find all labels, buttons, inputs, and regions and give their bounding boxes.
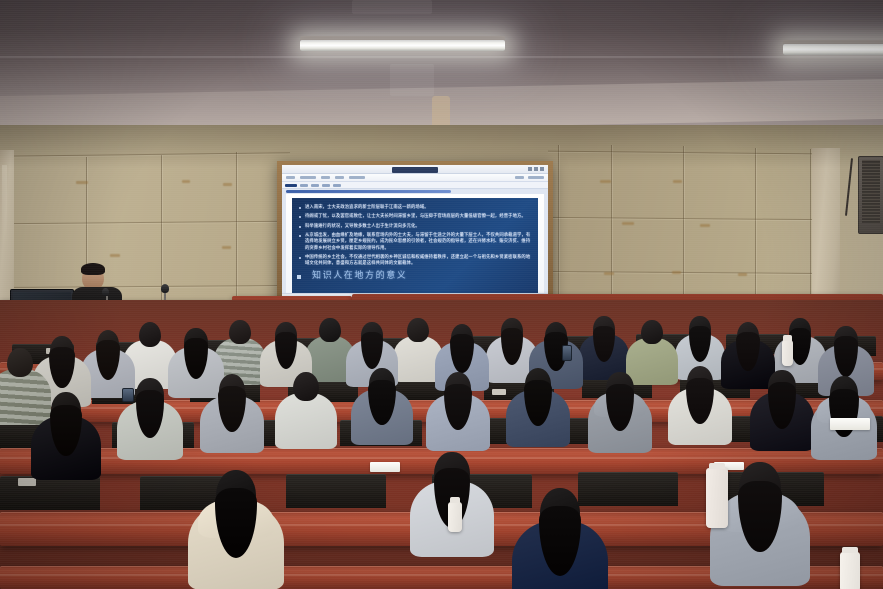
audience-member bbox=[750, 370, 814, 458]
paper-sheet bbox=[830, 418, 870, 430]
audience-head bbox=[7, 348, 33, 377]
ppt-ribbon[interactable] bbox=[282, 174, 548, 182]
slide-heading-bullet-icon bbox=[297, 275, 301, 279]
audience-member bbox=[275, 372, 337, 457]
seat-number-tag bbox=[492, 389, 506, 395]
bullet-dot-icon bbox=[299, 235, 301, 237]
audience-head bbox=[319, 318, 340, 342]
bullet-dot-icon bbox=[299, 216, 301, 218]
slide-bullet-text: 从京城出发，由血缘扩及地缘，联系官场内外的士大夫，与滞留于仕途之外的大量下层士人… bbox=[305, 232, 531, 251]
audience-member bbox=[351, 368, 413, 453]
wall-panel-mark bbox=[700, 224, 710, 227]
ribbon-right-group[interactable] bbox=[515, 176, 544, 179]
window-controls[interactable] bbox=[528, 167, 544, 171]
wall-panel-mark bbox=[622, 222, 634, 225]
slide-bullet: 中国传统的乡土社会，不仅通过世代相袭的乡神区诚信和权威维持着秩序，还建立起一个与… bbox=[299, 254, 531, 266]
audience-member bbox=[31, 392, 102, 489]
ceiling-seam bbox=[0, 56, 883, 58]
slide-heading: 知识人在地方的意义 bbox=[312, 268, 407, 281]
microphone-head-icon bbox=[102, 288, 109, 296]
speaker-grille bbox=[862, 160, 880, 223]
wall-speaker bbox=[858, 156, 883, 234]
water-bottle bbox=[448, 502, 462, 532]
slide-bullet: 进入南宋，士大夫政治追求的新士阶层联于江南这一新的场域。 bbox=[299, 204, 531, 210]
column-highlight bbox=[2, 165, 7, 245]
paper-sheet bbox=[370, 462, 400, 472]
slide-bullet-text: 科举施难行的状况，又导致多数士人出于生计流向多元化。 bbox=[305, 223, 420, 229]
presenter-hair bbox=[81, 263, 105, 275]
water-bottle bbox=[706, 468, 728, 528]
bottle-cap bbox=[783, 335, 791, 341]
fluorescent-tube-light bbox=[783, 44, 883, 55]
slide-bullet: 待阙或丁忧，以及罢官或致仕，让士大夫长时间滞留乡里，与压抑于官场底层的大量低级官… bbox=[299, 213, 531, 219]
bottle-cap bbox=[450, 497, 461, 503]
audience-head bbox=[407, 318, 428, 342]
audience-head bbox=[641, 320, 663, 344]
smartphone bbox=[122, 388, 134, 402]
wall-panel-mark bbox=[600, 180, 611, 183]
ppt-title-bar bbox=[282, 165, 548, 174]
audience-head bbox=[139, 322, 161, 347]
wall-panel-mark bbox=[182, 180, 190, 183]
wall-panel-mark bbox=[673, 180, 682, 183]
slide-canvas: 进入南宋，士大夫政治追求的新士阶层联于江南这一新的场域。 待阙或丁忧，以及罢官或… bbox=[286, 194, 544, 293]
wall-panel-mark bbox=[223, 183, 232, 186]
wall-panel-mark bbox=[222, 246, 231, 249]
ppt-progress-strip[interactable] bbox=[286, 190, 451, 193]
ppt-document-title bbox=[392, 167, 438, 173]
audience-member bbox=[668, 366, 731, 453]
audience-head bbox=[229, 320, 251, 344]
water-bottle bbox=[782, 340, 793, 366]
bottle-cap bbox=[709, 463, 726, 469]
bottle-cap bbox=[842, 547, 857, 553]
audience-member bbox=[588, 372, 652, 460]
water-bottle bbox=[840, 552, 860, 589]
bullet-dot-icon bbox=[299, 207, 301, 209]
slide-bullet-text: 进入南宋，士大夫政治追求的新士阶层联于江南这一新的场域。 bbox=[305, 204, 429, 210]
audience-member bbox=[426, 372, 489, 459]
bullet-dot-icon bbox=[299, 257, 301, 259]
slide-bullet: 科举施难行的状况，又导致多数士人出于生计流向多元化。 bbox=[299, 223, 531, 229]
bullet-dot-icon bbox=[299, 226, 301, 228]
ppt-tab-bar[interactable] bbox=[282, 182, 548, 189]
slide-body-textbox: 进入南宋，士大夫政治追求的新士阶层联于江南这一新的场域。 待阙或丁忧，以及罢官或… bbox=[292, 198, 538, 297]
audience-member bbox=[200, 374, 263, 461]
audience-head bbox=[293, 372, 319, 401]
ceiling-vent bbox=[352, 0, 432, 14]
slide-bullet: 从京城出发，由血缘扩及地缘，联系官场内外的士大夫，与滞留于仕途之外的大量下层士人… bbox=[299, 232, 531, 251]
audience-member bbox=[506, 368, 569, 455]
fluorescent-tube-light bbox=[300, 40, 505, 51]
lecture-hall-photo: 进入南宋，士大夫政治追求的新士阶层联于江南这一新的场域。 待阙或丁忧，以及罢官或… bbox=[0, 0, 883, 589]
seat-back bbox=[286, 474, 386, 508]
smartphone bbox=[562, 345, 572, 361]
audience-torso bbox=[275, 393, 337, 449]
wall-panel-mark bbox=[604, 272, 614, 275]
slide-bullet-text: 待阙或丁忧，以及罢官或致仕，让士大夫长时间滞留乡里，与压抑于官场底层的大量低级官… bbox=[305, 213, 526, 219]
wall-panel-mark bbox=[738, 273, 747, 276]
audience-member bbox=[188, 470, 284, 589]
projection-screen: 进入南宋，士大夫政治追求的新士阶层联于江南这一新的场域。 待阙或丁忧，以及罢官或… bbox=[282, 165, 548, 315]
wall-panel-mark bbox=[76, 181, 88, 184]
wall-panel-mark bbox=[110, 254, 120, 257]
audience-member bbox=[512, 488, 608, 589]
slide-bullet-text: 中国传统的乡土社会，不仅通过世代相袭的乡神区诚信和权威维持着秩序，还建立起一个与… bbox=[305, 254, 531, 266]
wall-panel-mark bbox=[672, 271, 681, 274]
ceiling-vent bbox=[390, 64, 434, 96]
microphone-head-icon bbox=[161, 284, 169, 293]
